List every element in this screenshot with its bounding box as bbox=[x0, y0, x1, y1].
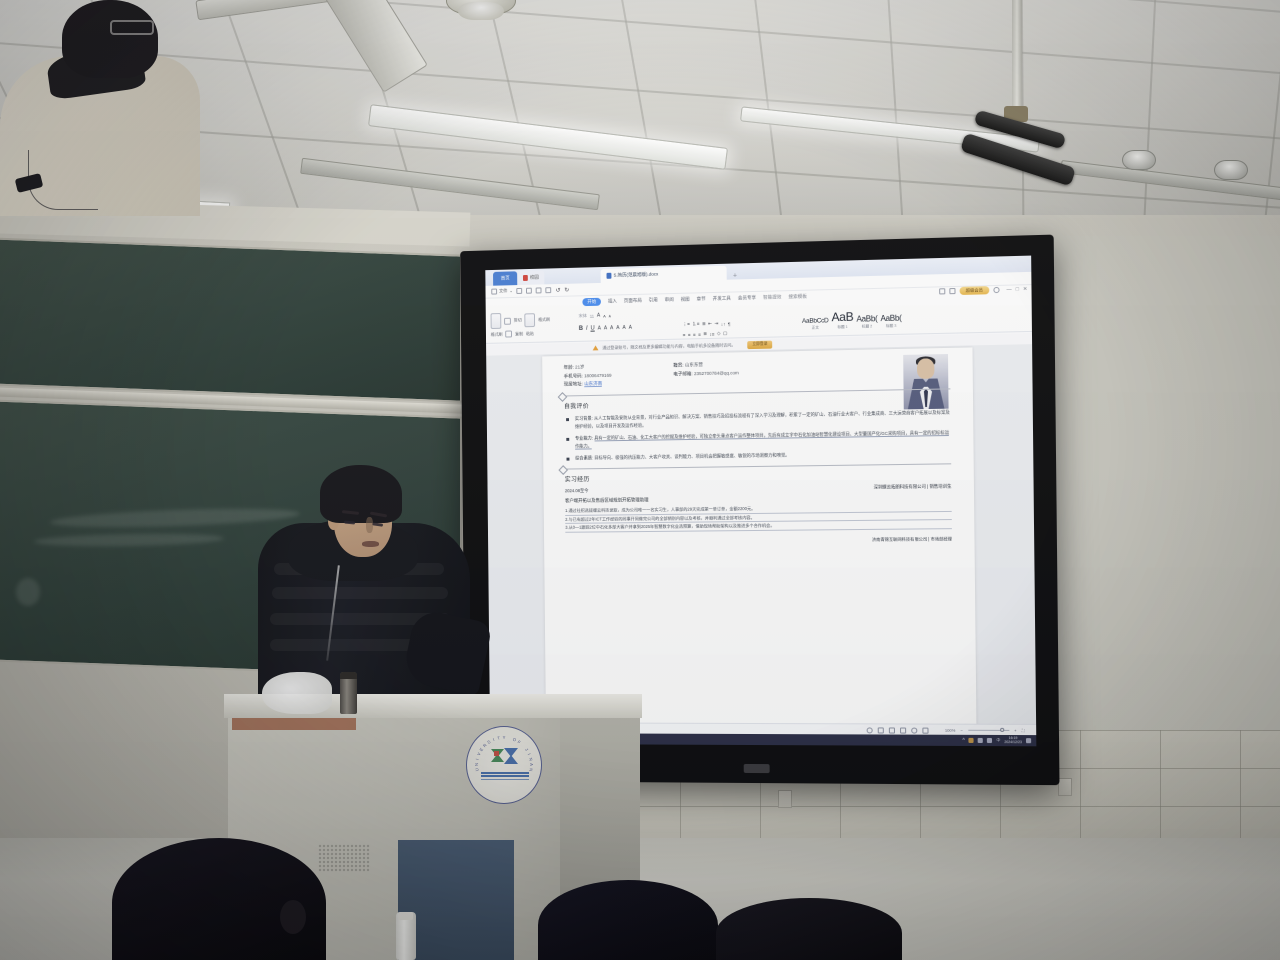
font-shrink-icon[interactable]: A bbox=[603, 313, 606, 318]
zoom-slider[interactable] bbox=[968, 730, 1009, 731]
internship-company: 深圳蝶云拓朗科技有限公司 | 销售培训生 bbox=[874, 483, 952, 490]
reading-view-icon[interactable] bbox=[900, 727, 906, 733]
ribbon-right-item-1[interactable]: 搜索模板 bbox=[788, 294, 806, 300]
ribbon-tab-6[interactable]: 章节 bbox=[697, 296, 706, 302]
bullet-text-2: 目标导向、极强的抗压能力、大客户攻关、谈判能力、项目机会把握敏感度、敏锐的市场洞… bbox=[594, 453, 789, 461]
ribbon-tab-4[interactable]: 审阅 bbox=[665, 297, 674, 303]
style-item-2[interactable]: AaBb( 标题 2 bbox=[856, 314, 877, 330]
network-icon[interactable] bbox=[978, 738, 983, 743]
undo-icon[interactable]: ↺ bbox=[555, 286, 560, 293]
save-icon[interactable] bbox=[517, 288, 523, 294]
tab-home-label: 首页 bbox=[501, 275, 510, 281]
presenter-nose bbox=[366, 517, 373, 533]
layout-icon[interactable] bbox=[939, 288, 945, 294]
student-foreground-2 bbox=[538, 880, 718, 960]
bold-button[interactable]: B bbox=[579, 326, 583, 332]
fullscreen-icon[interactable] bbox=[934, 727, 940, 733]
underline-button[interactable]: U bbox=[590, 326, 594, 332]
clock-date: 2024/12/23 bbox=[1004, 740, 1022, 744]
volume-icon[interactable] bbox=[987, 738, 992, 743]
zoom-level-label: 100% bbox=[945, 728, 956, 733]
line-spacing-icon[interactable]: ↕≡ bbox=[710, 331, 715, 336]
vip-badge[interactable]: 超级会员 bbox=[960, 286, 990, 295]
ribbon-tab-8[interactable]: 会员专享 bbox=[738, 295, 756, 301]
bullet-item-0: 实习背景: 从人工智能及安防从业背景，对行业产品知识、解决方案、销售技巧及招投标… bbox=[564, 409, 951, 430]
highlight-icon[interactable]: A bbox=[616, 325, 619, 331]
ribbon-tab-0[interactable]: 开始 bbox=[582, 297, 601, 306]
presenter-mouth bbox=[362, 541, 379, 547]
increase-indent-icon[interactable]: ⇥ bbox=[715, 321, 719, 327]
font-style-row[interactable]: B I U A A A A A A bbox=[579, 325, 632, 332]
bullet-text-0: 从人工智能及安防从业背景，对行业产品知识、解决方案、销售技巧及招投标流程有了深入… bbox=[575, 410, 950, 429]
show-marks-icon[interactable]: ¶ bbox=[728, 321, 731, 326]
sort-icon[interactable]: ↓↑ bbox=[721, 321, 726, 326]
wall-outlet-1 bbox=[778, 790, 792, 808]
resume-photo bbox=[903, 354, 948, 409]
tray-app-icon[interactable] bbox=[969, 738, 974, 743]
ribbon-right-item-0[interactable]: 智能提效 bbox=[763, 294, 781, 300]
multilevel-icon[interactable]: ≣ bbox=[702, 321, 706, 327]
internship-details: 1.通过社招选拔蝶云科技录取，成为公司唯一一名实习生，人事部的29天完成第一单订… bbox=[565, 503, 952, 533]
pdf-icon bbox=[523, 275, 528, 281]
clipboard-group[interactable]: 剪切 格式刷 bbox=[491, 312, 551, 329]
ceiling-fan bbox=[196, 0, 496, 64]
contact-info-block: 年龄: 21岁 籍贯: 山东东营 手机号码: 18006479169 电子邮箱:… bbox=[564, 356, 951, 390]
style-preview-1: AaB bbox=[831, 310, 853, 325]
mic-drop-pole-right bbox=[1012, 0, 1022, 122]
tab-campus[interactable]: 校园 bbox=[517, 271, 544, 286]
italic-button[interactable]: I bbox=[586, 326, 588, 332]
distribute-icon[interactable]: ≣ bbox=[703, 331, 707, 337]
student-foreground-3 bbox=[716, 898, 902, 960]
ribbon-tab-3[interactable]: 引用 bbox=[649, 297, 658, 303]
style-preview-2: AaBb( bbox=[856, 314, 877, 324]
section-title-self-evaluation: 自我评价 bbox=[564, 395, 951, 411]
ceiling-camera-2 bbox=[1214, 160, 1248, 180]
lectern-wood-trim bbox=[232, 718, 356, 730]
paste-button[interactable] bbox=[491, 313, 502, 329]
format-painter-alt[interactable]: 格式刷 bbox=[491, 331, 503, 337]
font-grow-icon[interactable]: A bbox=[597, 313, 600, 319]
logo-ring-text: UNIVERSITY OF JINAN bbox=[467, 727, 541, 803]
page-view-icon[interactable] bbox=[878, 727, 884, 733]
tab-home[interactable]: 首页 bbox=[493, 271, 517, 285]
export-pdf-icon[interactable] bbox=[546, 287, 552, 293]
zoom-slider-handle[interactable] bbox=[1000, 728, 1004, 732]
text-effect-icon[interactable]: A bbox=[629, 325, 632, 331]
copy-label: 复制 bbox=[515, 331, 523, 337]
clipboard-subgroup[interactable]: 格式刷 复制 粘贴 bbox=[491, 330, 534, 338]
bullet-key-1: 专业能力 bbox=[575, 436, 592, 441]
font-group[interactable]: 宋体 11 A A ᴀ bbox=[579, 312, 611, 319]
menu-icon bbox=[491, 289, 497, 295]
redo-icon[interactable]: ↻ bbox=[564, 286, 569, 293]
file-menu-label: 文件 bbox=[499, 288, 508, 294]
ribbon-tab-7[interactable]: 开发工具 bbox=[713, 296, 731, 302]
eyeglasses-icon bbox=[110, 20, 154, 35]
font-color-icon[interactable]: A bbox=[622, 325, 625, 331]
login-now-button[interactable]: 立即登录 bbox=[747, 340, 772, 349]
tissue-pack bbox=[262, 672, 332, 714]
wps-office-window[interactable]: 首页 校园 5.简历(范晨旭版).docx + bbox=[485, 256, 1036, 747]
tab-campus-label: 校园 bbox=[530, 275, 539, 281]
bullets-icon[interactable]: ⋮≡ bbox=[683, 321, 690, 327]
tab-document-label: 5.简历(范晨旭版).docx bbox=[614, 272, 659, 279]
internship-footer: 济南青锦互联网科技有限公司 | 市场部经理 bbox=[565, 536, 952, 545]
font-name-box[interactable]: 宋体 bbox=[579, 313, 587, 319]
style-item-0[interactable]: AaBbCcD 正文 bbox=[802, 317, 829, 331]
account-icon[interactable] bbox=[993, 287, 999, 293]
ceiling-camera-1 bbox=[1122, 150, 1156, 170]
cut-label: 剪切 bbox=[514, 317, 522, 323]
shading-icon[interactable]: ◇ bbox=[717, 331, 721, 337]
warning-triangle-icon bbox=[593, 345, 599, 350]
bullet-key-2: 综合素质 bbox=[575, 456, 592, 461]
student-foreground-1 bbox=[112, 838, 326, 960]
zoom-in-button[interactable]: + bbox=[1014, 728, 1016, 733]
style-item-3[interactable]: AaBb( 标题 3 bbox=[880, 314, 901, 330]
contact-left-2: 现居地址: 山东济南 bbox=[564, 379, 674, 390]
print-icon[interactable] bbox=[536, 287, 542, 293]
wall-right-panel bbox=[1040, 236, 1280, 736]
ime-indicator[interactable]: 中 bbox=[997, 738, 1001, 743]
blackboard-panel-top bbox=[0, 237, 462, 402]
chalk-smudge-3 bbox=[16, 578, 40, 606]
style-item-1[interactable]: AaB 标题 1 bbox=[831, 310, 853, 331]
bullet-item-2: 综合素质: 目标导向、极强的抗压能力、大客户攻关、谈判能力、项目机会把握敏感度、… bbox=[565, 449, 952, 462]
paste-label: 粘贴 bbox=[526, 330, 534, 336]
decrease-indent-icon[interactable]: ⇤ bbox=[708, 321, 712, 327]
chevron-up-icon[interactable]: ^ bbox=[962, 737, 964, 743]
file-menu-button[interactable]: 文件 ⌄ bbox=[491, 288, 513, 294]
style-label-3: 标题 3 bbox=[881, 324, 902, 330]
divider-2 bbox=[565, 463, 952, 469]
student-head bbox=[62, 0, 158, 78]
superscript-icon[interactable]: A bbox=[610, 325, 613, 331]
paragraph-group-row2[interactable]: ≡ ≡ ≡ ≡ ≣ ↕≡ ◇ ▢ bbox=[683, 331, 728, 338]
internship-date: 2024.08至今 bbox=[565, 488, 589, 494]
style-preview-3: AaBb( bbox=[880, 314, 901, 324]
align-right-icon[interactable]: ≡ bbox=[693, 332, 696, 337]
close-icon[interactable]: ✕ bbox=[1023, 286, 1027, 292]
notification-text: 通过登录账号，随文档及更多编辑功能与内容，电脑手机多设备随时访问。 bbox=[602, 342, 735, 351]
strikethrough-icon[interactable]: A bbox=[598, 326, 601, 332]
settings-gear-icon[interactable] bbox=[867, 727, 873, 733]
bullet-text-1: 具有一定的矿山、石油、化工大客户的挖掘及维护经验，可独立牵头重点客户运作整体项目… bbox=[575, 430, 949, 449]
display-surface[interactable]: 首页 校园 5.简历(范晨旭版).docx + bbox=[485, 256, 1036, 747]
copy-button[interactable] bbox=[524, 313, 535, 327]
font-size-box[interactable]: 11 bbox=[590, 313, 594, 318]
print-preview-icon[interactable] bbox=[526, 288, 532, 294]
borders-icon[interactable]: ▢ bbox=[723, 331, 727, 337]
section-title-internship: 实习经历 bbox=[565, 469, 952, 483]
word-icon bbox=[607, 273, 612, 279]
paragraph-group-row1[interactable]: ⋮≡ ⒈≡ ≣ ⇤ ⇥ ↓↑ ¶ bbox=[683, 321, 731, 328]
classroom-scene: 首页 校园 5.简历(范晨旭版).docx + bbox=[0, 0, 1280, 960]
copy-icon[interactable] bbox=[505, 330, 512, 337]
internship-header: 2024.08至今 深圳蝶云拓朗科技有限公司 | 销售培训生 bbox=[565, 483, 952, 494]
thermos-bottle bbox=[340, 672, 357, 714]
ribbon-tab-1[interactable]: 插入 bbox=[608, 298, 617, 304]
lectern-speaker-grille bbox=[318, 844, 370, 872]
notification-center-icon[interactable] bbox=[1026, 738, 1031, 743]
window-controls[interactable]: — □ ✕ bbox=[1007, 286, 1028, 293]
university-of-jinan-logo: UNIVERSITY OF JINAN bbox=[466, 726, 542, 804]
eye-protect-icon[interactable] bbox=[911, 727, 917, 733]
zoom-out-button[interactable]: − bbox=[960, 728, 962, 733]
maximize-icon[interactable]: □ bbox=[1016, 287, 1019, 293]
taskbar-clock[interactable]: 16:19 2024/12/23 bbox=[1004, 737, 1022, 745]
ribbon-tab-2[interactable]: 页面布局 bbox=[624, 298, 642, 304]
style-preview-0: AaBbCcD bbox=[802, 317, 829, 325]
style-label-2: 标题 2 bbox=[857, 324, 878, 330]
style-label-1: 标题 1 bbox=[832, 325, 854, 331]
minimize-icon[interactable]: — bbox=[1007, 287, 1012, 293]
wall-outlet-2 bbox=[1058, 778, 1072, 796]
water-bottle bbox=[396, 912, 416, 960]
cut-icon[interactable] bbox=[504, 317, 511, 324]
justify-icon[interactable]: ≡ bbox=[698, 332, 701, 337]
document-canvas[interactable]: 年龄: 21岁 籍贯: 山东东营 手机号码: 18006479169 电子邮箱:… bbox=[486, 344, 1036, 724]
document-page[interactable]: 年龄: 21岁 籍贯: 山东东营 手机号码: 18006479169 电子邮箱:… bbox=[542, 347, 976, 723]
bullet-key-0: 实习背景 bbox=[575, 416, 592, 421]
ribbon-tab-5[interactable]: 视图 bbox=[681, 297, 690, 303]
self-evaluation-bullets: 实习背景: 从人工智能及安防从业背景，对行业产品知识、解决方案、销售技巧及招投标… bbox=[564, 409, 951, 463]
numbering-icon[interactable]: ⒈≡ bbox=[692, 321, 699, 327]
align-center-icon[interactable]: ≡ bbox=[688, 332, 691, 337]
subscript-icon[interactable]: A bbox=[604, 325, 607, 331]
presenter-hair bbox=[320, 465, 402, 523]
chevron-down-icon: ⌄ bbox=[509, 288, 513, 294]
align-left-icon[interactable]: ≡ bbox=[683, 332, 686, 337]
bullet-item-1: 专业能力: 具有一定的矿山、石油、化工大客户的挖掘及维护经验，可独立牵头重点客户… bbox=[564, 429, 951, 450]
edit-pen-icon[interactable] bbox=[922, 727, 928, 733]
fit-page-icon[interactable]: ⛶ bbox=[1022, 727, 1028, 733]
display-brand-logo bbox=[744, 764, 770, 773]
format-painter-label[interactable]: 格式刷 bbox=[538, 317, 550, 323]
outline-view-icon[interactable] bbox=[889, 727, 895, 733]
grid-icon[interactable] bbox=[949, 288, 955, 294]
style-label-0: 正文 bbox=[802, 325, 829, 331]
clear-format-icon[interactable]: ᴀ bbox=[609, 313, 611, 318]
style-gallery[interactable]: AaBbCcD 正文 AaB 标题 1 AaBb( 标题 2 AaBb( 标题 … bbox=[802, 309, 902, 331]
